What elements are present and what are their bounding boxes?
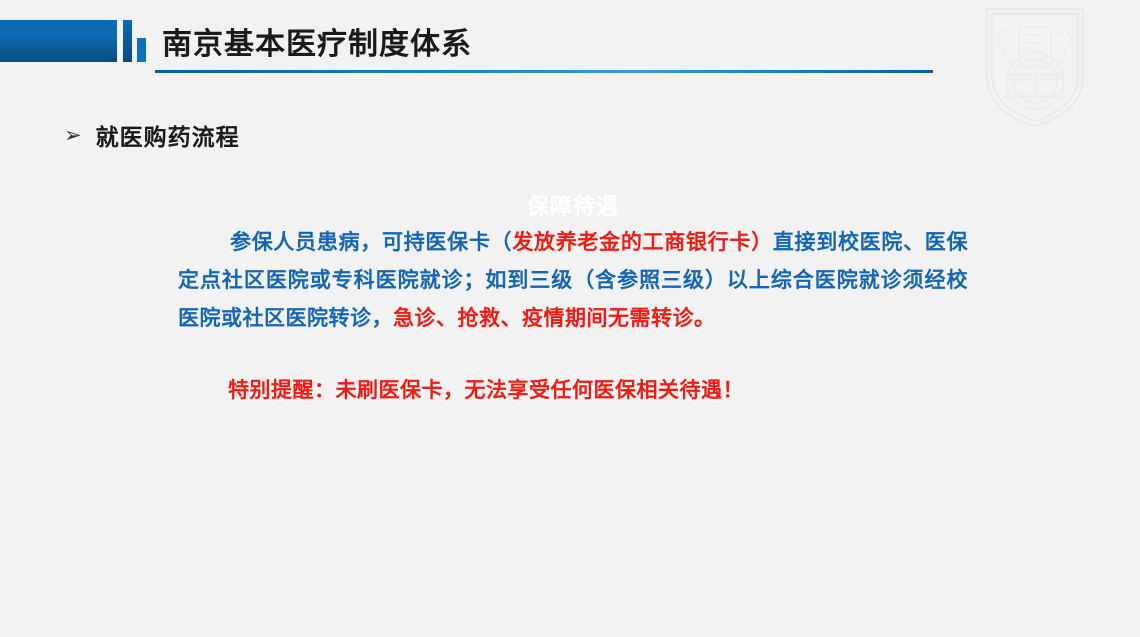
university-crest-icon: 1902 南京工业大学 NANJING TECH UNIVERSITY — [983, 5, 1087, 130]
paragraph-segment-4: 急诊、抢救、疫情期间无需转诊。 — [393, 307, 716, 330]
page-title: 南京基本医疗制度体系 — [162, 25, 472, 65]
header-accent-bar-wide — [0, 20, 117, 62]
svg-text:NANJING TECH UNIVERSITY: NANJING TECH UNIVERSITY — [983, 107, 1087, 113]
svg-text:南京工业大学: 南京工业大学 — [1014, 76, 1056, 85]
svg-text:1902: 1902 — [1028, 59, 1042, 65]
arrow-bullet-icon: ➢ — [64, 125, 82, 146]
alert-notice: 特别提醒：未刷医保卡，无法享受任何医保相关待遇！ — [178, 338, 968, 410]
content-paragraph: 参保人员患病，可持医保卡（发放养老金的工商银行卡）直接到校医院、医保定点社区医院… — [178, 224, 968, 338]
paragraph-segment-1: 参保人员患病，可持医保卡（ — [230, 231, 512, 254]
header-accent-bar-short — [137, 38, 146, 62]
content-heading: 保障待遇 — [178, 192, 968, 222]
paragraph-segment-2: 发放养老金的工商银行卡） — [512, 231, 773, 254]
section-bullet-label: 就医购药流程 — [96, 118, 240, 152]
content-block: 保障待遇 参保人员患病，可持医保卡（发放养老金的工商银行卡）直接到校医院、医保定… — [178, 192, 968, 410]
header-divider — [155, 70, 933, 73]
slide-canvas: 南京基本医疗制度体系 1902 南京工业大学 NANJING TECH — [0, 0, 1140, 637]
header-accent-bar-tall — [123, 20, 132, 62]
section-bullet: ➢ 就医购药流程 — [64, 118, 240, 152]
